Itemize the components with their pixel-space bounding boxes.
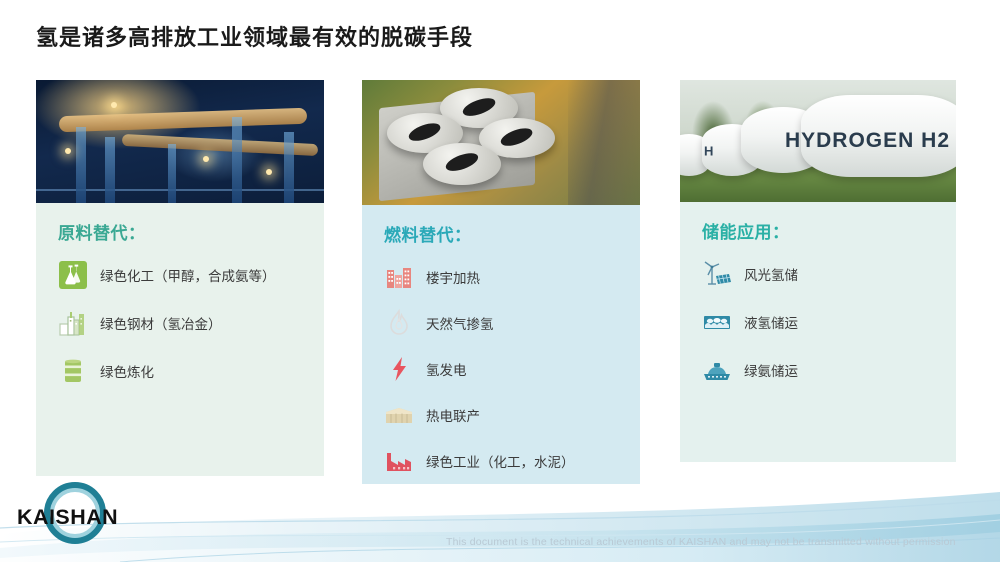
list-item-label: 楼宇加热 [426, 267, 480, 287]
photo-detail [59, 108, 307, 133]
flame-icon [384, 308, 414, 338]
photo-detail [423, 143, 501, 185]
footer-band: KAISHAN This document is the technical a… [0, 470, 1000, 562]
flask-chemistry-icon [58, 260, 88, 290]
kaishan-logo: KAISHAN [14, 482, 144, 548]
photo-detail [105, 137, 115, 203]
photo-industrial-plant-night [36, 80, 324, 203]
list-item[interactable]: 绿色化工（甲醇，合成氨等） [58, 260, 306, 290]
list-item[interactable]: 热电联产 [384, 400, 622, 430]
list-item-label: 氢发电 [426, 359, 467, 379]
list-item-label: 液氢储运 [744, 312, 798, 332]
list-item[interactable]: 风光氢储 [702, 259, 938, 289]
warehouse-icon [384, 400, 414, 430]
list-item[interactable]: 氢发电 [384, 354, 622, 384]
photo-detail [203, 156, 209, 162]
list-item-label: 热电联产 [426, 405, 480, 425]
photo-detail [65, 148, 71, 154]
list-item[interactable]: 绿色钢材（氢冶金） [58, 308, 306, 338]
list-item-label: 绿色炼化 [100, 361, 154, 381]
liquid-hydrogen-icon [702, 307, 732, 337]
list-item[interactable]: 楼宇加热 [384, 262, 622, 292]
photo-detail [76, 127, 86, 203]
page-title: 氢是诸多高排放工业领域最有效的脱碳手段 [36, 20, 473, 52]
cargo-ship-icon [702, 355, 732, 385]
footer-wave-graphic [0, 470, 1000, 562]
photo-detail [232, 117, 242, 203]
footer-disclaimer: This document is the technical achieveme… [446, 536, 956, 548]
photo-label-hydrogen: HYDROGEN H2 [785, 129, 950, 153]
card-feedstock-substitution: 原料替代： 绿色化工（甲醇，合成氨等） [36, 80, 324, 476]
card-heading: 燃料替代： [384, 221, 622, 246]
list-item-label: 天然气掺氢 [426, 313, 494, 333]
photo-detail [284, 132, 294, 203]
card-energy-storage-application: H HYDROGEN H2 储能应用： [680, 80, 956, 462]
card-body: 储能应用： [680, 202, 956, 413]
photo-detail [568, 80, 640, 205]
list-item[interactable]: 绿色炼化 [58, 356, 306, 386]
list-item[interactable]: 绿氨储运 [702, 355, 938, 385]
photo-hydrogen-storage-tanks: H HYDROGEN H2 [680, 80, 956, 202]
list-item-label: 绿氨储运 [744, 360, 798, 380]
steel-factory-icon [58, 308, 88, 338]
card-heading: 储能应用： [702, 218, 938, 243]
list-item-label: 绿色工业（化工，水泥） [426, 451, 575, 471]
photo-label-secondary: H [704, 143, 713, 158]
card-body: 原料替代： 绿色化工（甲醇，合成氨等） [36, 203, 324, 414]
lightning-bolt-icon [384, 354, 414, 384]
list-item-label: 风光氢储 [744, 264, 798, 284]
photo-detail [168, 144, 176, 203]
building-heating-icon [384, 262, 414, 292]
list-item[interactable]: 天然气掺氢 [384, 308, 622, 338]
list-item[interactable]: 液氢储运 [702, 307, 938, 337]
list-item-label: 绿色化工（甲醇，合成氨等） [100, 265, 276, 285]
card-heading: 原料替代： [58, 219, 306, 244]
oil-barrel-icon [58, 356, 88, 386]
card-fuel-substitution: 燃料替代： [362, 80, 640, 484]
card-body: 燃料替代： [362, 205, 640, 484]
photo-detail [111, 102, 117, 108]
wind-solar-icon [702, 259, 732, 289]
list-item-label: 绿色钢材（氢冶金） [100, 313, 222, 333]
photo-aerial-cooling-towers [362, 80, 640, 205]
photo-detail [266, 169, 272, 175]
logo-wordmark: KAISHAN [17, 506, 118, 530]
slide-root: 氢是诸多高排放工业领域最有效的脱碳手段 原料替代： [0, 0, 1000, 562]
